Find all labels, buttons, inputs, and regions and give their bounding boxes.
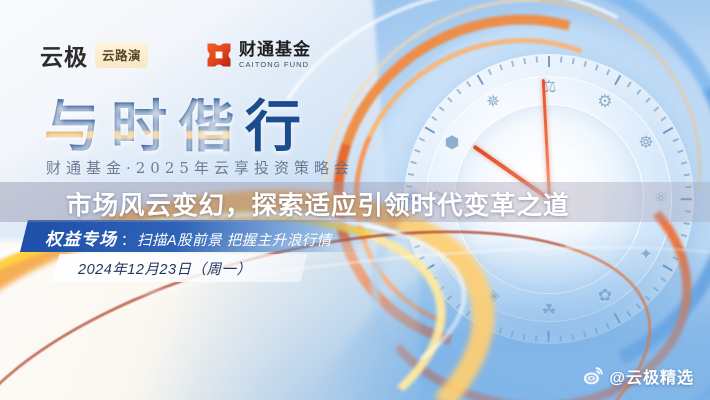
- poster-canvas: ⚖⚙☸⚛✦✿☘◈✻⌬⬢✵ 云极 云路演: [0, 0, 710, 400]
- session-label: 权益专场: [45, 225, 117, 250]
- headline-text: 市场风云变幻，探索适应引领时代变革之道: [66, 185, 570, 222]
- title-char-1: 与: [44, 94, 111, 160]
- caitong-name-en: CAITONG FUND: [239, 61, 311, 69]
- dial-glyph: ✵: [480, 89, 506, 115]
- dial-glyph: ⬢: [439, 130, 465, 156]
- title-char-2: 时: [111, 94, 178, 160]
- yunji-roadshow-badge: 云路演: [95, 42, 148, 68]
- watermark-handle: @云极精选: [609, 364, 694, 388]
- caitong-logo[interactable]: 财通基金 CAITONG FUND: [206, 41, 311, 69]
- title-char-4: 行: [245, 94, 312, 160]
- title-char-3: 偕: [178, 94, 245, 160]
- caitong-name-cn: 财通基金: [239, 41, 311, 58]
- poster-main-title: 与时偕行: [44, 82, 312, 163]
- caitong-astroid-icon: [206, 42, 232, 68]
- caitong-text-block: 财通基金 CAITONG FUND: [239, 41, 311, 69]
- watermark[interactable]: @云极精选: [583, 364, 694, 388]
- weibo-icon: [583, 367, 603, 385]
- session-colon: ：: [121, 230, 135, 250]
- event-date: 2024年12月23日（周一）: [78, 258, 252, 279]
- dial-glyph: ☸: [633, 130, 659, 156]
- dial-glyph: ⚙: [592, 89, 618, 115]
- yunji-wordmark: 云极: [40, 38, 88, 72]
- dial-glyph: ⚖: [536, 74, 562, 100]
- session-text-group: 权益专场 ： 扫描A股前景 把握主升浪行情: [45, 225, 332, 250]
- session-description: 扫描A股前景 把握主升浪行情: [137, 229, 332, 250]
- yunji-logo[interactable]: 云极 云路演: [40, 38, 148, 72]
- logo-row: 云极 云路演 财通基金: [40, 38, 311, 72]
